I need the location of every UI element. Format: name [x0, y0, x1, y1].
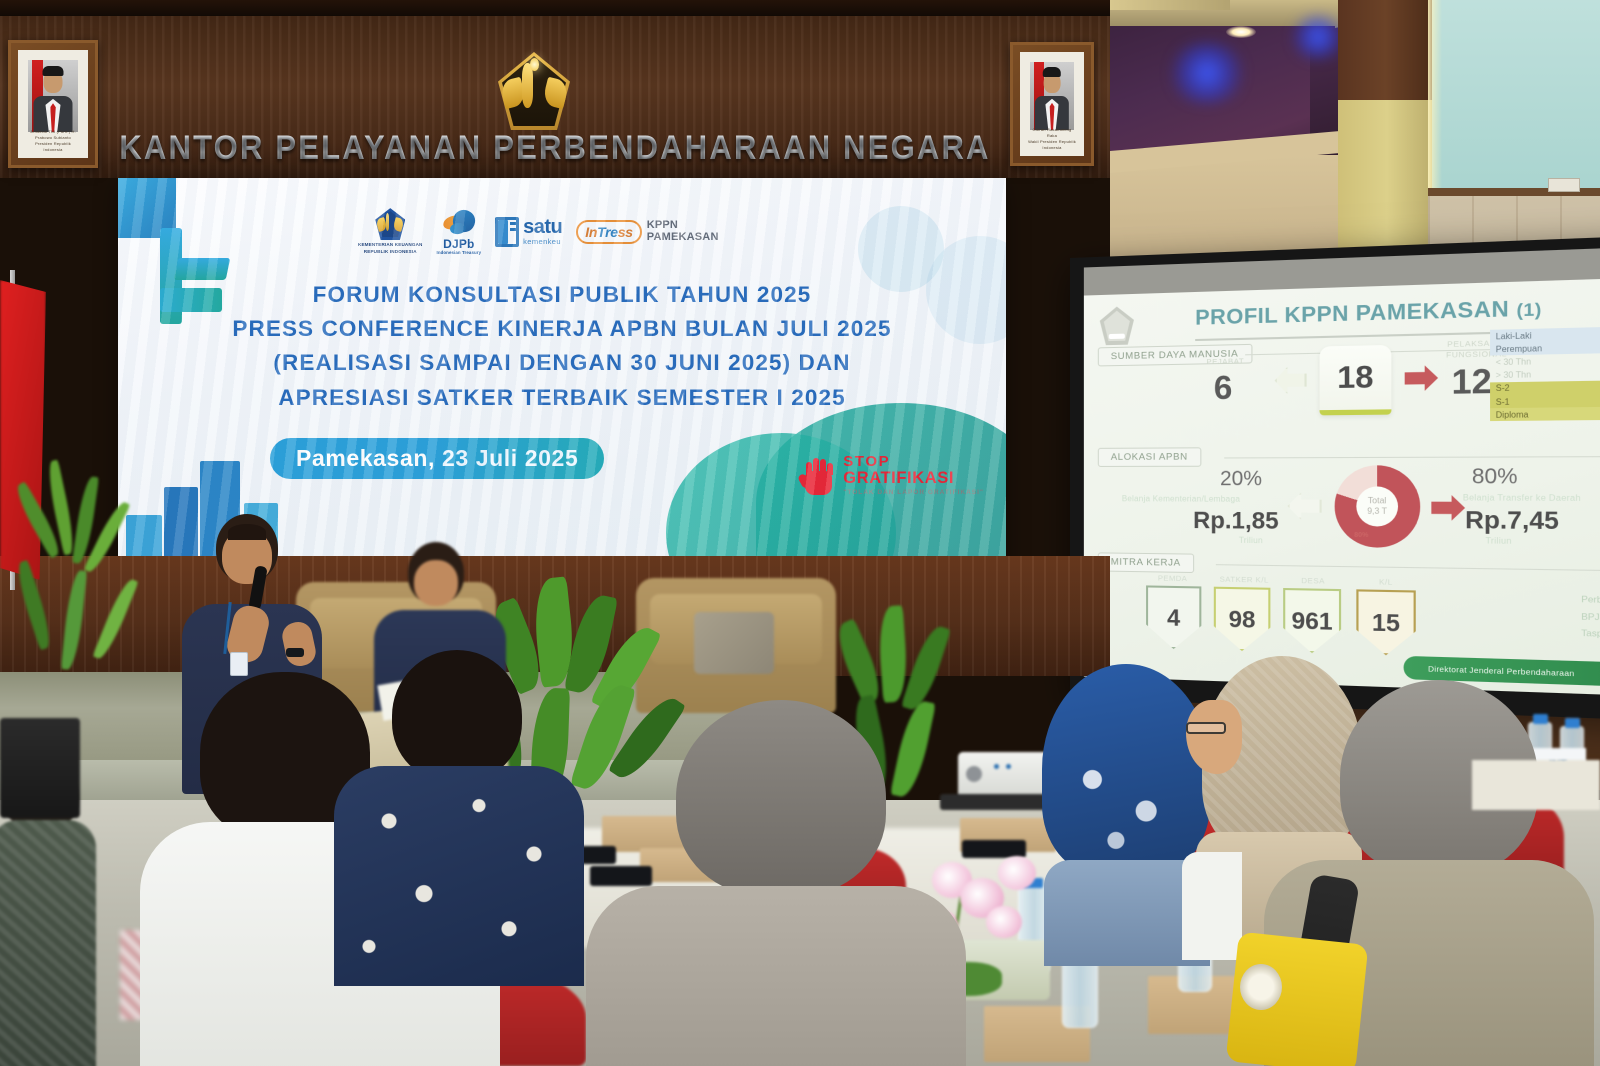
arrow-left-icon	[1275, 367, 1307, 395]
apbn-left-amount: Rp.1,85	[1193, 507, 1279, 535]
mitra-label-2: DESA	[1283, 576, 1343, 586]
slide-content: PROFIL KPPN PAMEKASAN (1) SUMBER DAYA MA…	[1084, 278, 1600, 696]
attendee-batik-shirt-body	[334, 766, 584, 986]
plant-left	[20, 450, 160, 680]
intress-kppn-logo: InTress KPPN PAMEKASAN	[576, 220, 718, 244]
table-row: S-24	[1490, 380, 1600, 395]
blue-accent-light	[1164, 42, 1250, 104]
kemenkeu-emblem-icon	[498, 52, 570, 130]
mitra-label-3: K/L	[1356, 577, 1415, 588]
wall-sign-text: KANTOR PELAYANAN PERBENDAHARAAN NEGARA	[0, 128, 1110, 168]
conference-room-scene: Jenderal TNI (Purn.) H. Prabowo Subianto…	[0, 0, 1600, 1066]
slide-tag-apbn: ALOKASI APBN	[1098, 447, 1201, 467]
stage-speaker-monitor	[0, 718, 80, 818]
apbn-left-label: Belanja Kementerian/Lembaga	[1122, 494, 1298, 504]
apbn-right-unit: Triliun	[1485, 536, 1511, 546]
mitra-label-1: SATKER K/L	[1212, 574, 1277, 584]
eyeglasses-icon	[1186, 722, 1226, 734]
arrow-right-icon	[1405, 365, 1438, 391]
mitra-value-1: 98	[1214, 587, 1271, 652]
banner-logo-row: KEMENTERIAN KEUANGAN REPUBLIK INDONESIA …	[358, 200, 778, 264]
sdm-right-value: 12	[1452, 362, 1492, 402]
attendee-batik-shirt	[330, 650, 590, 980]
ceiling-strip	[0, 0, 1110, 16]
attendee-police-officer	[1244, 680, 1600, 1066]
apbn-right-pct: 80%	[1472, 465, 1518, 490]
projection-screen: PROFIL KPPN PAMEKASAN (1) SUMBER DAYA MA…	[1070, 236, 1600, 721]
mitra-value-2: 961	[1283, 588, 1341, 654]
wall-socket	[1548, 178, 1580, 192]
wristwatch	[286, 648, 304, 657]
sdm-total-value: 18	[1320, 345, 1392, 415]
sdm-demographics-table: Laki-Laki11 Perempuan7 < 30 Thn9 > 30 Th…	[1490, 326, 1600, 421]
sofa-pillow	[694, 612, 774, 674]
djpb-logo: DJPb Indonesian Treasury	[437, 210, 482, 255]
sdm-left-value: 6	[1214, 369, 1233, 407]
banner-place-date-pill: Pamekasan, 23 Juli 2025	[270, 438, 604, 479]
apbn-right-label: Belanja Transfer ke Daerah	[1463, 493, 1600, 503]
satu-kemenkeu-logo: satu kemenkeu	[495, 217, 562, 247]
slide-title: PROFIL KPPN PAMEKASAN (1)	[1195, 296, 1542, 331]
apbn-right-amount: Rp.7,45	[1465, 506, 1559, 536]
slide-kemenkeu-logo-icon	[1100, 306, 1134, 345]
ceiling-spotlight-icon	[1226, 26, 1256, 38]
mitra-value-0: 4	[1146, 585, 1201, 649]
attendee-grey-shirt-body	[586, 886, 966, 1066]
apbn-left-unit: Triliun	[1239, 536, 1263, 546]
arrow-right-icon	[1431, 495, 1465, 521]
apbn-donut-chart: Total 9,3 T 80%	[1335, 465, 1421, 548]
uniform-emblem	[1240, 964, 1282, 1010]
door-icon	[495, 217, 519, 247]
banner-headline: FORUM KONSULTASI PUBLIK TAHUN 2025 PRESS…	[118, 278, 1006, 415]
apbn-left-pct: 20%	[1220, 468, 1262, 492]
table-row: Diploma10	[1490, 407, 1600, 422]
slide-tag-mitra: MITRA KERJA	[1098, 552, 1194, 573]
stop-gratifikasi-badge: STOP GRATIFIKASI "TOLAK DAN LAPOR GRATIF…	[802, 454, 984, 496]
mitra-side-list: Perbankan BPJS Taspen	[1581, 591, 1600, 644]
table-row: S-14	[1490, 393, 1600, 408]
stop-hand-icon	[802, 455, 836, 495]
mitra-value-3: 15	[1356, 589, 1415, 656]
mitra-label-0: PEMDA	[1144, 573, 1201, 583]
kemenkeu-logo: KEMENTERIAN KEUANGAN REPUBLIK INDONESIA	[358, 208, 423, 256]
side-table	[1472, 760, 1600, 810]
sdm-left-label: PEJABAT	[1189, 356, 1262, 367]
attendee-grey-shirt	[556, 700, 986, 1066]
